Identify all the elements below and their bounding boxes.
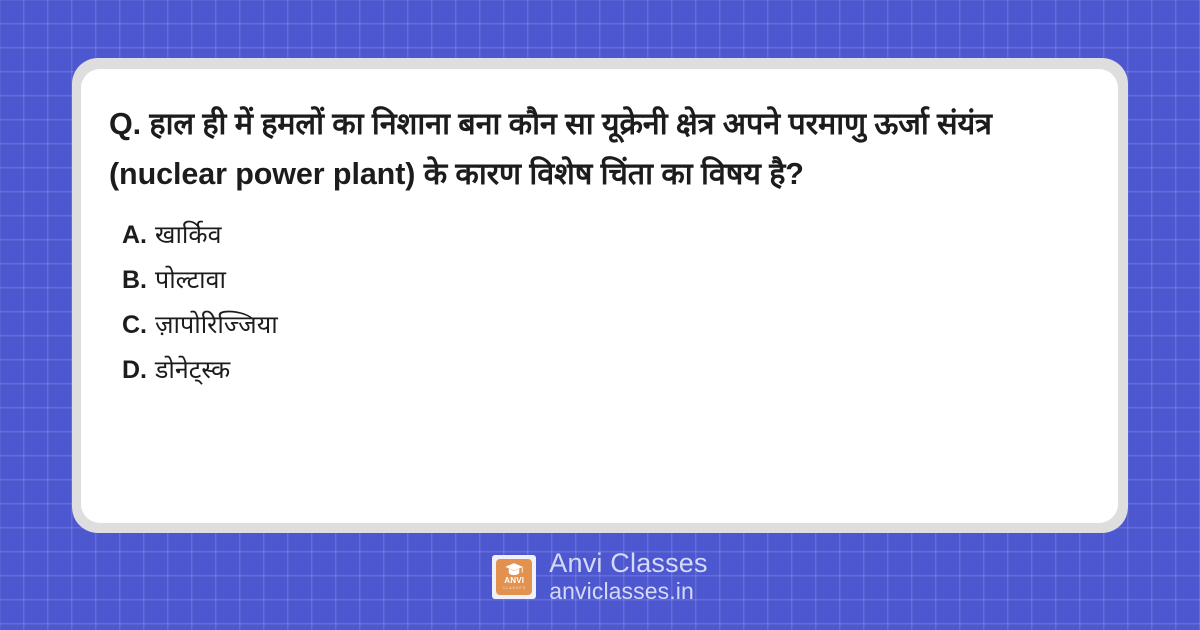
option-letter-b: B.	[122, 258, 147, 303]
options-list: A. खार्किव B. पोल्टावा C. ज़ापोरिज्जिया …	[109, 213, 1096, 393]
footer-brand: ANVI CLASSES Anvi Classes anviclasses.in	[0, 548, 1200, 605]
option-row-d[interactable]: D. डोनेट्स्क	[122, 348, 1096, 393]
question-card-inner: Q. हाल ही में हमलों का निशाना बना कौन सा…	[81, 69, 1118, 523]
question-card: Q. हाल ही में हमलों का निशाना बना कौन सा…	[72, 58, 1128, 533]
option-text-d: डोनेट्स्क	[155, 348, 230, 393]
option-letter-a: A.	[122, 213, 147, 258]
option-text-a: खार्किव	[155, 213, 222, 258]
option-letter-c: C.	[122, 303, 147, 348]
question-text: Q. हाल ही में हमलों का निशाना बना कौन सा…	[109, 99, 1094, 199]
graduation-cap-icon	[505, 563, 523, 576]
brand-logo-tile: ANVI CLASSES	[496, 559, 532, 595]
brand-logo-subtitle: CLASSES	[502, 585, 526, 591]
brand-website[interactable]: anviclasses.in	[549, 578, 707, 605]
brand-logo-name: ANVI	[504, 577, 524, 585]
brand-name: Anvi Classes	[549, 548, 707, 578]
option-row-b[interactable]: B. पोल्टावा	[122, 258, 1096, 303]
option-row-c[interactable]: C. ज़ापोरिज्जिया	[122, 303, 1096, 348]
brand-text-block: Anvi Classes anviclasses.in	[549, 548, 707, 605]
option-row-a[interactable]: A. खार्किव	[122, 213, 1096, 258]
option-text-b: पोल्टावा	[155, 258, 226, 303]
brand-logo: ANVI CLASSES	[492, 555, 536, 599]
option-letter-d: D.	[122, 348, 147, 393]
option-text-c: ज़ापोरिज्जिया	[155, 303, 278, 348]
